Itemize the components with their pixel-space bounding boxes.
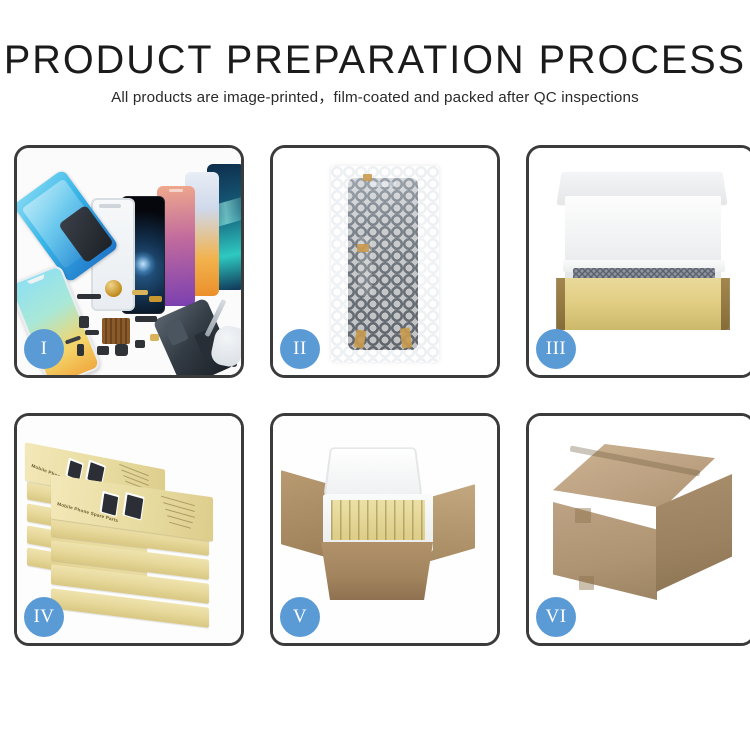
- step-badge-2: II: [280, 329, 320, 369]
- speaker-module-icon: [105, 280, 122, 297]
- step-carton-packing-panel[interactable]: V: [270, 413, 500, 646]
- carton-front-face: [321, 542, 433, 600]
- spare-part-vibrator: [97, 346, 109, 355]
- spare-part-camera: [79, 316, 89, 328]
- spare-part-bracket: [150, 334, 159, 341]
- spare-part-strip-2: [85, 330, 99, 335]
- process-steps-grid: I II: [14, 145, 736, 678]
- box-label-screen-swatch-3: [100, 491, 120, 517]
- header: PRODUCT PREPARATION PROCESS All products…: [0, 0, 750, 108]
- spare-part-connector-2: [149, 296, 162, 302]
- product-preparation-infographic: PRODUCT PREPARATION PROCESS All products…: [0, 0, 750, 750]
- page-subtitle: All products are image-printed，film-coat…: [0, 88, 750, 108]
- page-title: PRODUCT PREPARATION PROCESS: [4, 38, 747, 82]
- step-sealed-carton-panel[interactable]: VI: [526, 413, 750, 646]
- bubble-wrap-bag: [331, 166, 439, 362]
- spare-part-sensor: [135, 340, 145, 348]
- spare-part-flex-1: [135, 316, 157, 322]
- spare-part-button: [77, 344, 84, 356]
- tape-piece-top: [363, 174, 372, 181]
- carton-tab-upper: [575, 508, 591, 523]
- yellow-boxes-inside-cooler: [331, 500, 425, 540]
- carton-tab-lower: [579, 576, 594, 590]
- box-stack: Mobile Phone Spare Parts Mobile Phone Sp…: [23, 430, 241, 628]
- spare-part-strip-1: [77, 294, 101, 299]
- step-badge-4: IV: [24, 597, 64, 637]
- tape-piece-middle: [357, 244, 369, 252]
- step-components-panel[interactable]: I: [14, 145, 244, 378]
- logic-board-part: [102, 318, 130, 344]
- foam-cooler-lid: [324, 447, 423, 496]
- step-badge-5: V: [280, 597, 320, 637]
- step-bubble-wrap-panel[interactable]: II: [270, 145, 500, 378]
- step-badge-6: VI: [536, 597, 576, 637]
- step-badge-1: I: [24, 329, 64, 369]
- spare-part-module: [115, 344, 128, 356]
- step-badge-3: III: [536, 329, 576, 369]
- kraft-box-tray: [557, 278, 729, 330]
- spare-part-connector-1: [132, 290, 148, 295]
- step-boxed-stack-panel[interactable]: Mobile Phone Spare Parts Mobile Phone Sp…: [14, 413, 244, 646]
- step-foam-box-panel[interactable]: III: [526, 145, 750, 378]
- bubble-texture-overlay: [331, 166, 439, 362]
- box-label-screen-swatch-4: [122, 492, 144, 521]
